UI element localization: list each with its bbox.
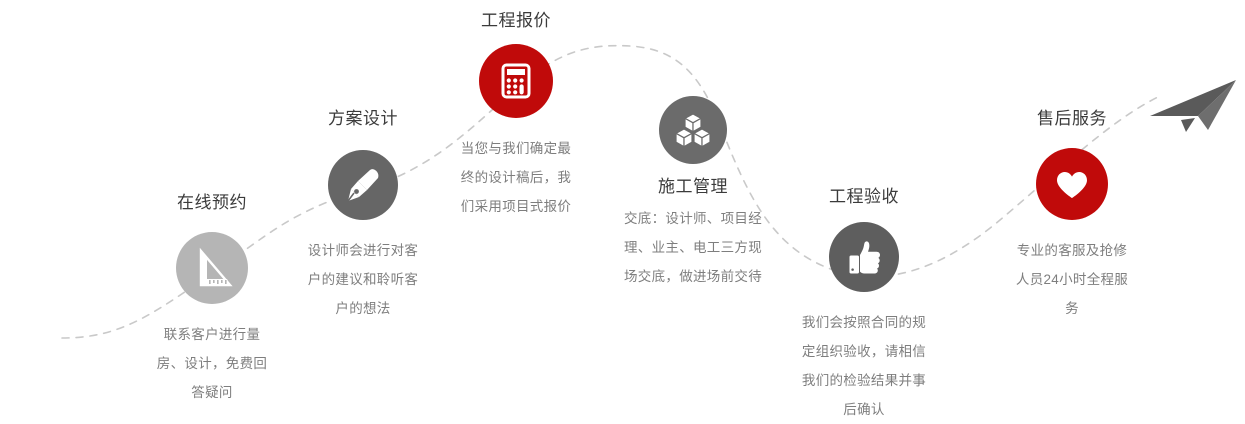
fountain-pen-icon <box>328 150 398 220</box>
step-title: 施工管理 <box>601 176 785 198</box>
step-title: 售后服务 <box>986 108 1158 130</box>
desc-line: 专业的客服及抢修 <box>986 236 1158 265</box>
step-project-acceptance[interactable]: 工程验收 我们会按照合同的规 定组织验收，请相信 我们的检验结果并事 后确认 <box>772 186 956 424</box>
step-description: 当您与我们确定最 终的设计稿后，我 们采用项目式报价 <box>430 134 602 221</box>
desc-line: 们采用项目式报价 <box>430 192 602 221</box>
step-description: 设计师会进行对客 户的建议和聆听客 户的想法 <box>277 236 449 323</box>
desc-line: 答疑问 <box>126 378 298 407</box>
step-icon[interactable] <box>601 96 785 164</box>
step-after-sales-service[interactable]: 售后服务 专业的客服及抢修 人员24小时全程服 务 <box>986 108 1158 323</box>
desc-line: 联系客户进行量 <box>126 320 298 349</box>
step-icon[interactable] <box>277 150 449 220</box>
step-description: 专业的客服及抢修 人员24小时全程服 务 <box>986 236 1158 323</box>
desc-line: 户的想法 <box>277 294 449 323</box>
step-title: 工程报价 <box>430 10 602 32</box>
step-project-quotation[interactable]: 工程报价 <box>430 10 602 221</box>
desc-line: 交底：设计师、项目经 <box>601 204 785 233</box>
step-construction-management[interactable]: 施工管理 交底：设计师、项目经 理、业主、电工三方现 场交底，做进场前交待 <box>601 96 785 291</box>
desc-line: 房、设计，免费回 <box>126 349 298 378</box>
step-icon[interactable] <box>430 44 602 118</box>
desc-line: 理、业主、电工三方现 <box>601 233 785 262</box>
paper-plane-icon <box>1148 78 1243 143</box>
heart-icon <box>1036 148 1108 220</box>
step-description: 联系客户进行量 房、设计，免费回 答疑问 <box>126 320 298 407</box>
desc-line: 定组织验收，请相信 <box>772 337 956 366</box>
desc-line: 当您与我们确定最 <box>430 134 602 163</box>
desc-line: 设计师会进行对客 <box>277 236 449 265</box>
step-title: 方案设计 <box>277 108 449 130</box>
step-icon[interactable] <box>772 222 956 292</box>
desc-line: 户的建议和聆听客 <box>277 265 449 294</box>
desc-line: 人员24小时全程服 <box>986 265 1158 294</box>
step-title: 工程验收 <box>772 186 956 208</box>
desc-line: 后确认 <box>772 395 956 424</box>
step-online-booking[interactable]: 在线预约 联系客户进行量 房、设计，免费回 答疑问 <box>126 192 298 407</box>
step-description: 我们会按照合同的规 定组织验收，请相信 我们的检验结果并事 后确认 <box>772 308 956 424</box>
step-icon[interactable] <box>986 148 1158 220</box>
desc-line: 终的设计稿后，我 <box>430 163 602 192</box>
desc-line: 我们的检验结果并事 <box>772 366 956 395</box>
flow-diagram: 在线预约 联系客户进行量 房、设计，免费回 答疑问 <box>0 0 1245 402</box>
step-description: 交底：设计师、项目经 理、业主、电工三方现 场交底，做进场前交待 <box>601 204 785 291</box>
thumbs-up-icon <box>829 222 899 292</box>
step-title: 在线预约 <box>126 192 298 214</box>
desc-line: 我们会按照合同的规 <box>772 308 956 337</box>
set-square-ruler-icon <box>176 232 248 304</box>
cubes-icon <box>659 96 727 164</box>
step-scheme-design[interactable]: 方案设计 设计师会进行对客 户的建议和聆听客 户的想法 <box>277 108 449 323</box>
desc-line: 场交底，做进场前交待 <box>601 262 785 291</box>
calculator-icon <box>479 44 553 118</box>
desc-line: 务 <box>986 294 1158 323</box>
step-icon[interactable] <box>126 232 298 304</box>
